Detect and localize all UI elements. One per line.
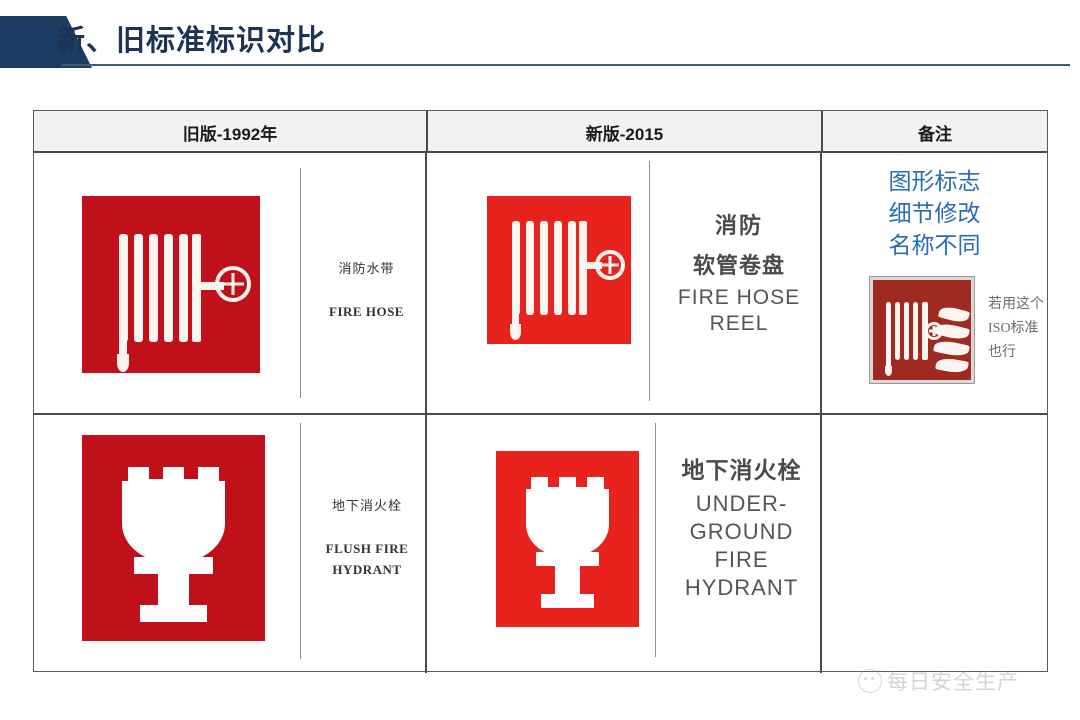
fire-hose-reel-sign-old <box>82 196 260 373</box>
table-row: 图形标志 细节修改 名称不同 若用这个ISO标准也行 <box>822 153 1047 413</box>
comparison-table: 旧版-1992年 新版-2015 备注 消防水带 FIRE HO <box>33 110 1048 672</box>
label-cn: 地下消火栓 <box>663 451 820 485</box>
table-header-row: 旧版-1992年 新版-2015 备注 <box>34 111 1047 153</box>
page-title: 新、旧标准标识对比 <box>56 17 326 59</box>
page-header: 新、旧标准标识对比 <box>0 0 1080 78</box>
cell-divider <box>300 168 301 398</box>
hydrant-icon <box>82 435 265 641</box>
table-row: 地下消火栓 FLUSH FIRE HYDRANT <box>34 415 425 673</box>
table-row <box>822 415 1047 673</box>
label-new-underground-hydrant: 地下消火栓 UNDER- GROUND FIRE HYDRANT <box>663 451 820 601</box>
cell-divider <box>649 161 650 401</box>
label-old-flush-hydrant: 地下消火栓 FLUSH FIRE HYDRANT <box>312 495 422 580</box>
label-en-line-4: HYDRANT <box>663 575 820 601</box>
column-header-old: 旧版-1992年 <box>34 111 426 153</box>
hose-reel-icon <box>487 196 631 344</box>
label-en-line-2: GROUND <box>663 519 820 545</box>
table-row: 地下消火栓 UNDER- GROUND FIRE HYDRANT <box>427 415 820 673</box>
table-row: 消防水带 FIRE HOSE <box>34 153 425 413</box>
flush-fire-hydrant-sign-old <box>82 435 265 641</box>
header-divider <box>62 64 1070 66</box>
label-en-line-2: HYDRANT <box>312 559 422 580</box>
label-new-fire-hose-reel: 消防 软管卷盘 FIRE HOSE REEL <box>659 208 819 336</box>
label-cn-line-1: 消防 <box>659 208 819 240</box>
label-cn: 消防水带 <box>314 258 419 277</box>
watermark: 每日安全生产 <box>858 662 1070 700</box>
iso-fire-hose-reel-flame-sign <box>870 277 974 383</box>
label-old-fire-hose: 消防水带 FIRE HOSE <box>314 258 419 322</box>
cell-divider <box>655 423 656 657</box>
fire-hose-reel-sign-new <box>487 196 631 344</box>
cell-divider <box>300 423 301 659</box>
note-secondary-text: 若用这个ISO标准也行 <box>988 293 1052 365</box>
flame-icon <box>933 304 977 384</box>
table-row: 消防 软管卷盘 FIRE HOSE REEL <box>427 153 820 413</box>
note-line-2: 细节修改 <box>822 197 1047 229</box>
note-line-3: 名称不同 <box>822 229 1047 261</box>
label-en-line-1: FLUSH FIRE <box>312 538 422 559</box>
column-header-new: 新版-2015 <box>426 111 821 153</box>
label-en-line-1: FIRE HOSE <box>659 286 819 310</box>
label-cn: 地下消火栓 <box>312 495 422 514</box>
watermark-text: 每日安全生产 <box>887 666 1019 696</box>
note-line-1: 图形标志 <box>822 165 1047 197</box>
label-en-line-2: REEL <box>659 312 819 336</box>
column-header-note: 备注 <box>821 111 1047 153</box>
flush-fire-hydrant-sign-new <box>496 451 639 627</box>
label-en-line-3: FIRE <box>663 547 820 573</box>
label-en: FIRE HOSE <box>314 301 419 322</box>
smiley-face-icon <box>858 669 882 693</box>
hydrant-icon <box>496 451 639 627</box>
label-cn-line-2: 软管卷盘 <box>659 248 819 280</box>
hose-reel-icon <box>82 196 260 373</box>
note-highlight-text: 图形标志 细节修改 名称不同 <box>822 165 1047 261</box>
label-en-line-1: UNDER- <box>663 491 820 517</box>
